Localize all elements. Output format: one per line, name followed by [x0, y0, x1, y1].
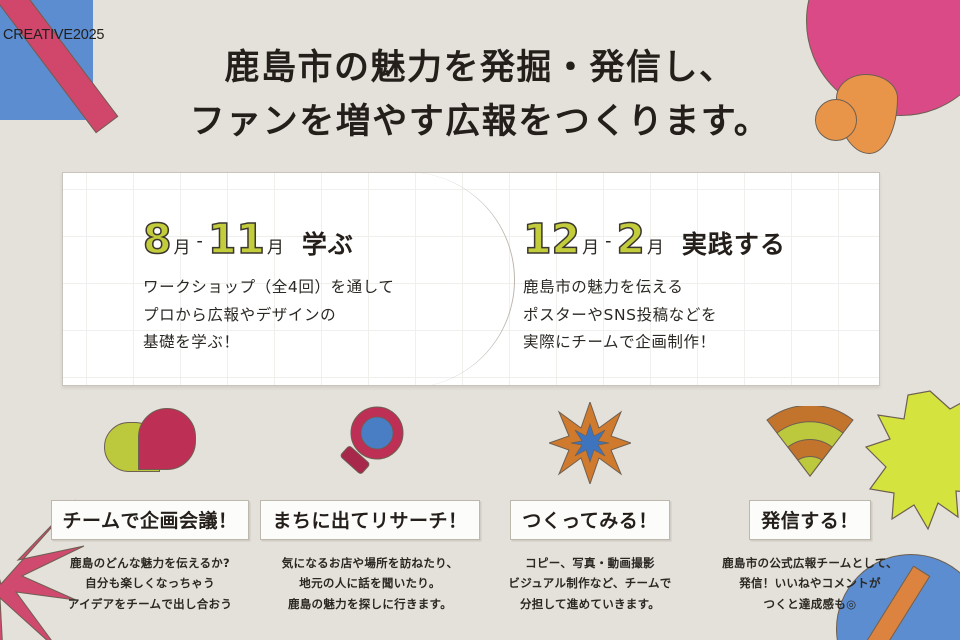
headline-line-2: ファンを増やす広報をつくります。 [0, 95, 960, 149]
phase-practice-body-line-3: 実際にチームで企画制作！ [523, 329, 880, 357]
step-desc-research-line-2: 地元の人に話を聞いたり。 [282, 573, 459, 593]
step-card-meeting: チームで企画会議！ 鹿島のどんな魅力を伝えるか? 自分も楽しくなっちゃう アイデ… [40, 400, 260, 614]
step-card-broadcast: 発信する！ 鹿島市の公式広報チームとして、 発信！いいねやコメントが つくと達成… [700, 400, 920, 614]
step-desc-create-line-3: 分担して進めていきます。 [508, 594, 671, 614]
step-desc-create-line-2: ビジュアル制作など、チームで [508, 573, 671, 593]
step-desc-meeting: 鹿島のどんな魅力を伝えるか? 自分も楽しくなっちゃう アイデアをチームで出し合お… [68, 553, 232, 614]
step-desc-research-line-3: 鹿島の魅力を探しに行きます。 [282, 594, 459, 614]
phase-practice-body-line-2: ポスターやSNS投稿などを [523, 302, 880, 330]
step-desc-broadcast-line-2: 発信！いいねやコメントが [722, 573, 898, 593]
phase-practice-start-number: 12 [523, 219, 580, 260]
step-desc-broadcast-line-3: つくと達成感も◎ [722, 594, 898, 614]
phase-learn-end-number: 11 [208, 219, 265, 260]
phase-practice-start-unit: 月 [582, 233, 599, 258]
page-title: 鹿島市の魅力を発掘・発信し、 ファンを増やす広報をつくります。 [0, 41, 960, 150]
step-card-research: まちに出てリサーチ！ 気になるお店や場所を訪ねたり、 地元の人に話を聞いたり。 … [260, 400, 480, 614]
phase-learn-start-unit: 月 [174, 233, 191, 258]
phase-learn-end-unit: 月 [267, 233, 284, 258]
starburst-icon [549, 400, 631, 486]
phase-learn-body-line-3: 基礎を学ぶ！ [143, 329, 523, 357]
phase-panel: 8 月 - 11 月 学ぶ ワークショップ（全4回）を通して プロから広報やデザ… [62, 172, 880, 386]
step-card-list: チームで企画会議！ 鹿島のどんな魅力を伝えるか? 自分も楽しくなっちゃう アイデ… [40, 400, 920, 614]
speech-bubbles-icon [104, 400, 196, 486]
phase-practice-end-number: 2 [616, 219, 645, 260]
step-desc-broadcast: 鹿島市の公式広報チームとして、 発信！いいねやコメントが つくと達成感も◎ [722, 553, 898, 614]
step-label-broadcast: 発信する！ [749, 500, 871, 540]
step-desc-research-line-1: 気になるお店や場所を訪ねたり、 [282, 553, 459, 573]
step-label-create: つくってみる！ [510, 500, 670, 540]
step-desc-meeting-line-1: 鹿島のどんな魅力を伝えるか? [68, 553, 232, 573]
step-desc-broadcast-line-1: 鹿島市の公式広報チームとして、 [722, 553, 898, 573]
step-desc-create: コピー、写真・動画撮影 ビジュアル制作など、チームで 分担して進めていきます。 [508, 553, 671, 614]
phase-practice-dash: - [605, 231, 611, 253]
step-label-research: まちに出てリサーチ！ [260, 500, 479, 540]
step-desc-create-line-1: コピー、写真・動画撮影 [508, 553, 671, 573]
phase-learn-body-line-1: ワークショップ（全4回）を通して [143, 274, 523, 302]
phase-block-learn: 8 月 - 11 月 学ぶ ワークショップ（全4回）を通して プロから広報やデザ… [143, 173, 523, 385]
speech-bubble-crimson [138, 408, 196, 470]
headline-line-1: 鹿島市の魅力を発掘・発信し、 [0, 41, 960, 95]
magnifier-icon [331, 400, 409, 486]
phase-learn-dash: - [197, 231, 203, 253]
step-desc-meeting-line-2: 自分も楽しくなっちゃう [68, 573, 232, 593]
step-desc-meeting-line-3: アイデアをチームで出し合おう [68, 594, 232, 614]
phase-learn-body: ワークショップ（全4回）を通して プロから広報やデザインの 基礎を学ぶ！ [143, 274, 523, 357]
phase-practice-title: 実践する [682, 225, 786, 261]
phase-learn-body-line-2: プロから広報やデザインの [143, 302, 523, 330]
phase-practice-heading: 12 月 - 2 月 実践する [523, 219, 880, 261]
broadcast-wifi-icon [765, 400, 855, 486]
phase-learn-heading: 8 月 - 11 月 学ぶ [143, 219, 523, 261]
phase-practice-end-unit: 月 [647, 233, 664, 258]
phase-practice-body: 鹿島市の魅力を伝える ポスターやSNS投稿などを 実際にチームで企画制作！ [523, 274, 880, 357]
brand-label: CREATIVE2025 [3, 27, 104, 43]
step-card-create: つくってみる！ コピー、写真・動画撮影 ビジュアル制作など、チームで 分担して進… [480, 400, 700, 614]
phase-practice-body-line-1: 鹿島市の魅力を伝える [523, 274, 880, 302]
phase-learn-start-number: 8 [143, 219, 172, 260]
step-desc-research: 気になるお店や場所を訪ねたり、 地元の人に話を聞いたり。 鹿島の魅力を探しに行き… [282, 553, 459, 614]
phase-learn-title: 学ぶ [302, 225, 354, 261]
step-label-meeting: チームで企画会議！ [51, 500, 250, 540]
phase-block-practice: 12 月 - 2 月 実践する 鹿島市の魅力を伝える ポスターやSNS投稿などを… [523, 173, 880, 385]
